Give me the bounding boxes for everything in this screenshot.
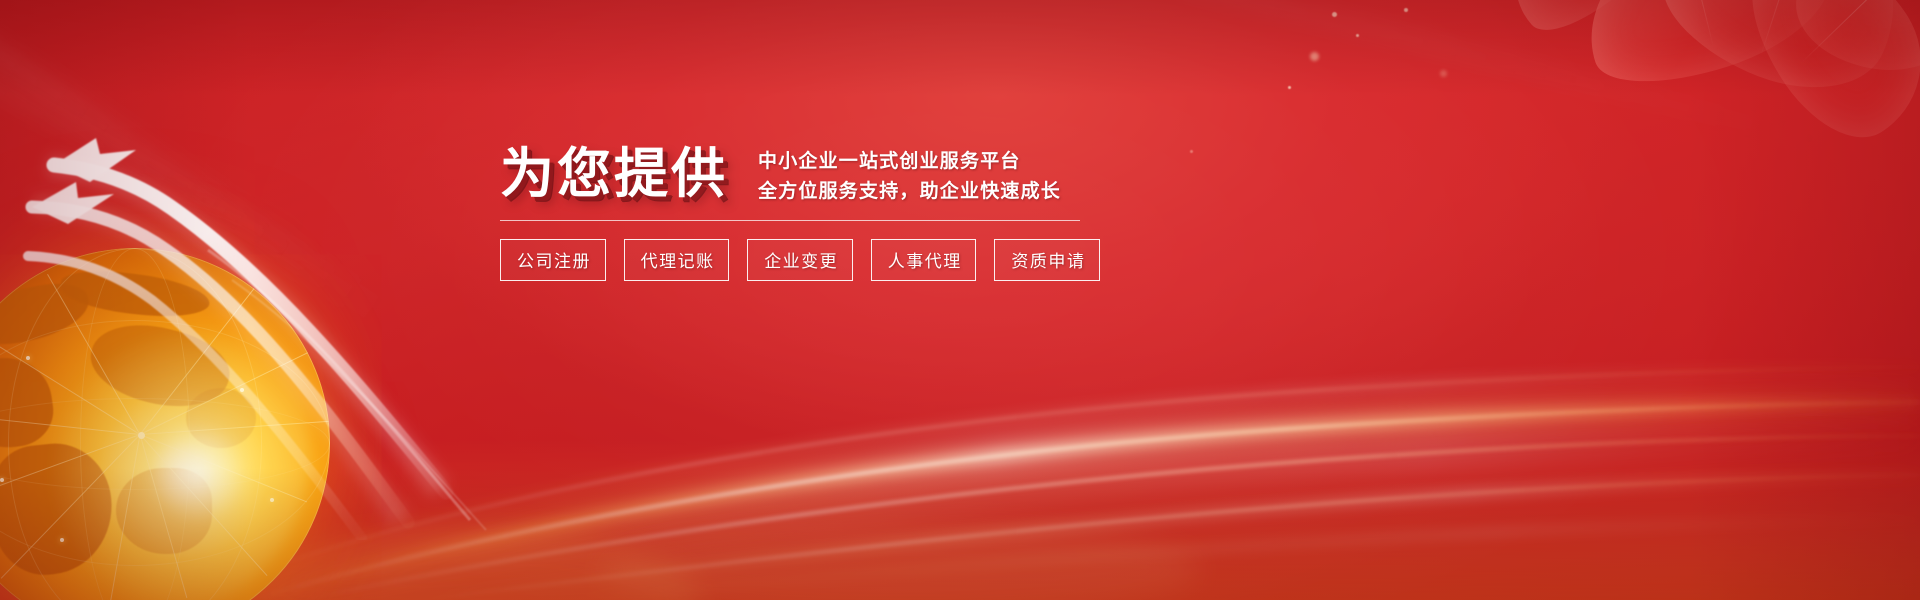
headline-row: 为您提供 中小企业一站式创业服务平台 全方位服务支持，助企业快速成长: [500, 140, 1100, 208]
sparkle-dot: [1440, 70, 1447, 77]
subtitle-block: 中小企业一站式创业服务平台 全方位服务支持，助企业快速成长: [758, 146, 1061, 203]
service-button-row: 公司注册 代理记账 企业变更 人事代理 资质申请: [500, 239, 1100, 281]
sparkle-dot: [1310, 52, 1319, 61]
service-button-company-change[interactable]: 企业变更: [747, 239, 853, 281]
divider: [500, 220, 1080, 221]
sparkle-dot: [1332, 12, 1337, 17]
promo-banner: 为您提供 中小企业一站式创业服务平台 全方位服务支持，助企业快速成长 公司注册 …: [0, 0, 1920, 600]
swoosh-arrows-decoration: [0, 60, 530, 540]
sparkle-dot: [1404, 8, 1408, 12]
service-button-hr-agency[interactable]: 人事代理: [871, 239, 977, 281]
sparkle-dot: [1356, 34, 1359, 37]
flower-petals-decoration: [1340, 0, 1920, 210]
service-button-qualification-application[interactable]: 资质申请: [994, 239, 1100, 281]
service-button-company-registration[interactable]: 公司注册: [500, 239, 606, 281]
subtitle-line-1: 中小企业一站式创业服务平台: [758, 146, 1061, 173]
subtitle-line-2: 全方位服务支持，助企业快速成长: [758, 176, 1061, 203]
banner-content: 为您提供 中小企业一站式创业服务平台 全方位服务支持，助企业快速成长 公司注册 …: [500, 140, 1100, 281]
sparkle-dot: [1190, 150, 1193, 153]
page-title: 为您提供: [500, 147, 728, 201]
service-button-bookkeeping[interactable]: 代理记账: [624, 239, 730, 281]
sparkle-dot: [1288, 86, 1291, 89]
